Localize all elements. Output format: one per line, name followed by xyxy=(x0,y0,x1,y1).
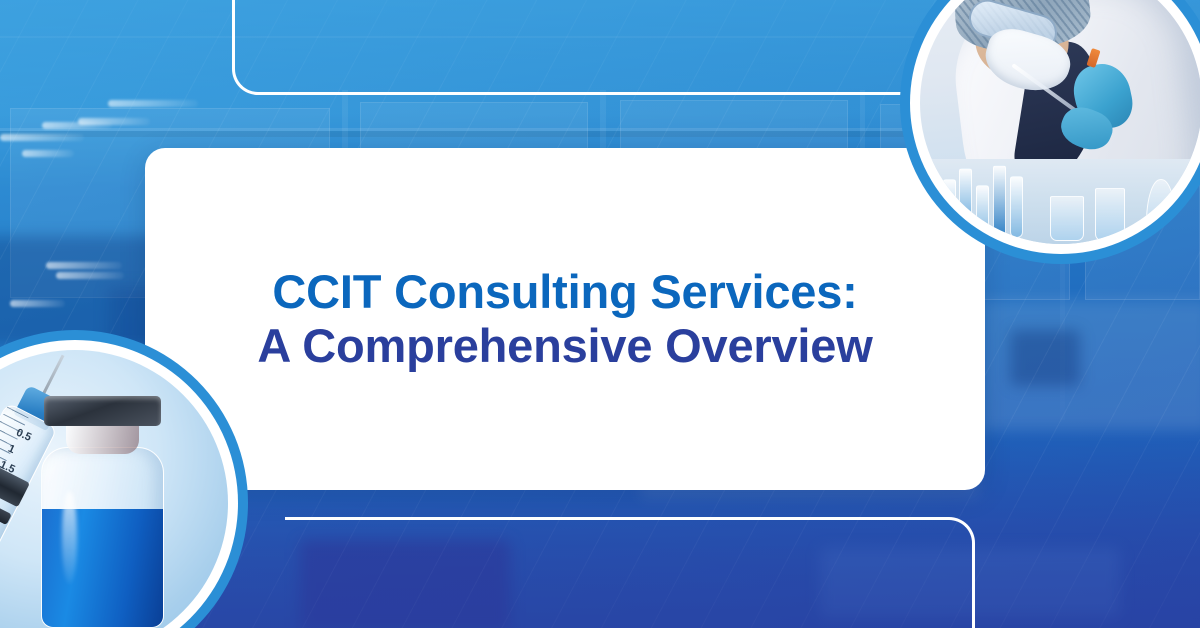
vial-cap-shape xyxy=(44,396,161,426)
beaker-shape xyxy=(1050,196,1084,241)
test-tube-shape xyxy=(993,165,1006,238)
vial-neck-shape xyxy=(66,424,139,454)
scientist-photo-badge xyxy=(900,0,1200,264)
test-tube-shape xyxy=(943,179,956,238)
vial-photo-badge: 0.5 1 1.5 2 2.5 3 xyxy=(0,330,248,628)
vial-body-shape xyxy=(41,447,163,628)
vial-shape xyxy=(41,396,163,628)
title-line-primary: CCIT Consulting Services: xyxy=(191,265,939,319)
test-tube-shape xyxy=(959,168,972,239)
test-tube-shape xyxy=(1010,176,1023,238)
syringe-and-vial-photo: 0.5 1 1.5 2 2.5 3 xyxy=(0,350,228,628)
beaker-shape xyxy=(1095,188,1125,242)
vial-blue-liquid xyxy=(42,509,162,627)
test-tube-shape xyxy=(976,185,989,239)
scientist-pipetting-photo xyxy=(920,0,1200,244)
corner-rule-bottom-right xyxy=(285,517,975,628)
vial-highlight xyxy=(62,491,78,584)
page-title: CCIT Consulting Services: A Comprehensiv… xyxy=(145,265,985,372)
title-line-secondary: A Comprehensive Overview xyxy=(191,319,939,373)
banner: CCIT Consulting Services: A Comprehensiv… xyxy=(0,0,1200,628)
title-card: CCIT Consulting Services: A Comprehensiv… xyxy=(145,148,985,490)
